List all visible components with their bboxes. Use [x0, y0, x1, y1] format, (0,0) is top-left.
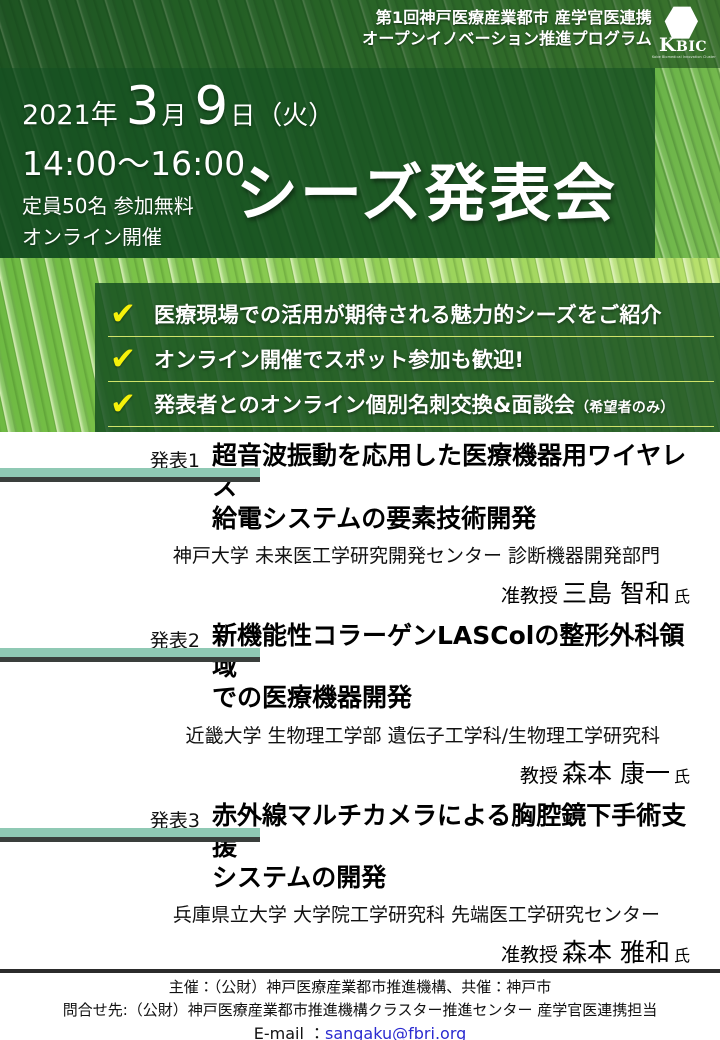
footer-contact: 問合せ先:（公財）神戸医療産業都市推進機構クラスター推進センター 産学官医連携担…	[0, 999, 720, 1022]
speaker-role: 准教授	[501, 585, 558, 607]
kbic-logo: KBIC Kobe Biomedical Innovation Cluster	[652, 6, 714, 64]
presentation-title: 新機能性コラーゲンLASColの整形外科領域 での医療機器開発	[212, 620, 720, 714]
presentation-title: 超音波振動を応用した医療機器用ワイヤレス 給電システムの要素技術開発	[212, 440, 720, 534]
event-year: 2021年	[22, 93, 118, 132]
presentation-entry-3: 発表3 赤外線マルチカメラによる胸腔鏡下手術支援 システムの開発 兵庫県立大学 …	[0, 800, 720, 970]
presentation-title: 赤外線マルチカメラによる胸腔鏡下手術支援 システムの開発	[212, 800, 720, 894]
presentation-speaker: 教授森本 康一氏	[0, 754, 720, 790]
event-day-number: 9	[194, 80, 228, 133]
speaker-role: 准教授	[501, 944, 558, 966]
program-header: 第1回神戸医療産業都市 産学官医連携 オープンイノベーション推進プログラム	[232, 7, 652, 49]
presentation-entry-1: 発表1 超音波振動を応用した医療機器用ワイヤレス 給電システムの要素技術開発 神…	[0, 440, 720, 610]
presentation-accent-bar	[0, 648, 260, 662]
presentation-title-line2: 給電システムの要素技術開発	[212, 503, 706, 534]
footer-organizers: 主催：（公財）神戸医療産業都市推進機構、共催：神戸市	[0, 976, 720, 999]
program-header-line2: オープンイノベーション推進プログラム	[232, 28, 652, 49]
footer: 主催：（公財）神戸医療産業都市推進機構、共催：神戸市 問合せ先:（公財）神戸医療…	[0, 976, 720, 1040]
event-month-number: 3	[126, 80, 160, 133]
poster-main-title: シーズ発表会	[236, 163, 617, 225]
speaker-name: 森本 雅和	[562, 938, 670, 967]
event-date-line: 2021年 3 月 9 日 （火）	[22, 80, 334, 133]
highlight-item: ✔ 医療現場での活用が期待される魅力的シーズをご紹介	[108, 292, 714, 337]
highlight-text-main: 医療現場での活用が期待される魅力的シーズをご紹介	[154, 303, 662, 327]
speaker-honorific: 氏	[674, 767, 690, 786]
presentation-title-line2: での医療機器開発	[212, 682, 706, 713]
presentation-accent-bar	[0, 468, 260, 482]
presentation-title-line2: システムの開発	[212, 862, 706, 893]
speaker-name: 森本 康一	[562, 759, 670, 788]
highlight-text-main: 発表者とのオンライン個別名刺交換&面談会	[154, 393, 575, 417]
kbic-logo-caption: Kobe Biomedical Innovation Cluster	[652, 55, 714, 59]
presentation-title-line1: 新機能性コラーゲンLASColの整形外科領域	[212, 620, 706, 683]
kbic-logo-k: K	[659, 34, 676, 56]
speaker-role: 教授	[520, 765, 558, 787]
event-weekday: （火）	[256, 95, 334, 132]
highlights-list: ✔ 医療現場での活用が期待される魅力的シーズをご紹介 ✔ オンライン開催でスポッ…	[108, 292, 714, 427]
event-day-unit: 日	[230, 96, 255, 132]
footer-email-row: E-mail ：sangaku@fbri.org	[0, 1022, 720, 1040]
highlight-text-note: （希望者のみ）	[575, 400, 674, 416]
speaker-name: 三島 智和	[562, 579, 670, 608]
presentation-entry-2: 発表2 新機能性コラーゲンLASColの整形外科領域 での医療機器開発 近畿大学…	[0, 620, 720, 790]
highlight-text-main: オンライン開催でスポット参加も歓迎!	[154, 348, 524, 372]
presentation-affiliation: 神戸大学 未来医工学研究開発センター 診断機器開発部門	[0, 541, 720, 568]
check-icon: ✔	[108, 389, 154, 420]
presentation-speaker: 准教授三島 智和氏	[0, 574, 720, 610]
speaker-honorific: 氏	[674, 946, 690, 965]
footer-divider	[0, 969, 720, 973]
email-label: E-mail ：	[254, 1024, 325, 1040]
highlight-text: オンライン開催でスポット参加も歓迎!	[154, 344, 524, 374]
presentation-affiliation: 兵庫県立大学 大学院工学研究科 先端医工学研究センター	[0, 900, 720, 927]
program-header-line1: 第1回神戸医療産業都市 産学官医連携	[232, 7, 652, 28]
email-link[interactable]: sangaku@fbri.org	[325, 1024, 466, 1040]
presentation-speaker: 准教授森本 雅和氏	[0, 933, 720, 969]
speaker-honorific: 氏	[674, 587, 690, 606]
hero-section: 第1回神戸医療産業都市 産学官医連携 オープンイノベーション推進プログラム KB…	[0, 0, 720, 432]
event-poster: 第1回神戸医療産業都市 産学官医連携 オープンイノベーション推進プログラム KB…	[0, 0, 720, 1040]
presentation-title-line1: 超音波振動を応用した医療機器用ワイヤレス	[212, 440, 706, 503]
kbic-logo-bic: BIC	[676, 39, 707, 55]
kbic-logo-text: KBIC	[652, 36, 714, 55]
highlight-text: 発表者とのオンライン個別名刺交換&面談会（希望者のみ）	[154, 389, 675, 419]
highlight-item: ✔ オンライン開催でスポット参加も歓迎!	[108, 337, 714, 382]
presentation-accent-bar	[0, 828, 260, 842]
presentation-affiliation: 近畿大学 生物理工学部 遺伝子工学科/生物理工学研究科	[0, 721, 720, 748]
event-month-unit: 月	[161, 96, 186, 132]
check-icon: ✔	[108, 344, 154, 375]
check-icon: ✔	[108, 299, 154, 330]
highlight-item: ✔ 発表者とのオンライン個別名刺交換&面談会（希望者のみ）	[108, 382, 714, 427]
presentation-title-line1: 赤外線マルチカメラによる胸腔鏡下手術支援	[212, 800, 706, 863]
presentation-list: 発表1 超音波振動を応用した医療機器用ワイヤレス 給電システムの要素技術開発 神…	[0, 440, 720, 979]
highlight-text: 医療現場での活用が期待される魅力的シーズをご紹介	[154, 299, 662, 329]
